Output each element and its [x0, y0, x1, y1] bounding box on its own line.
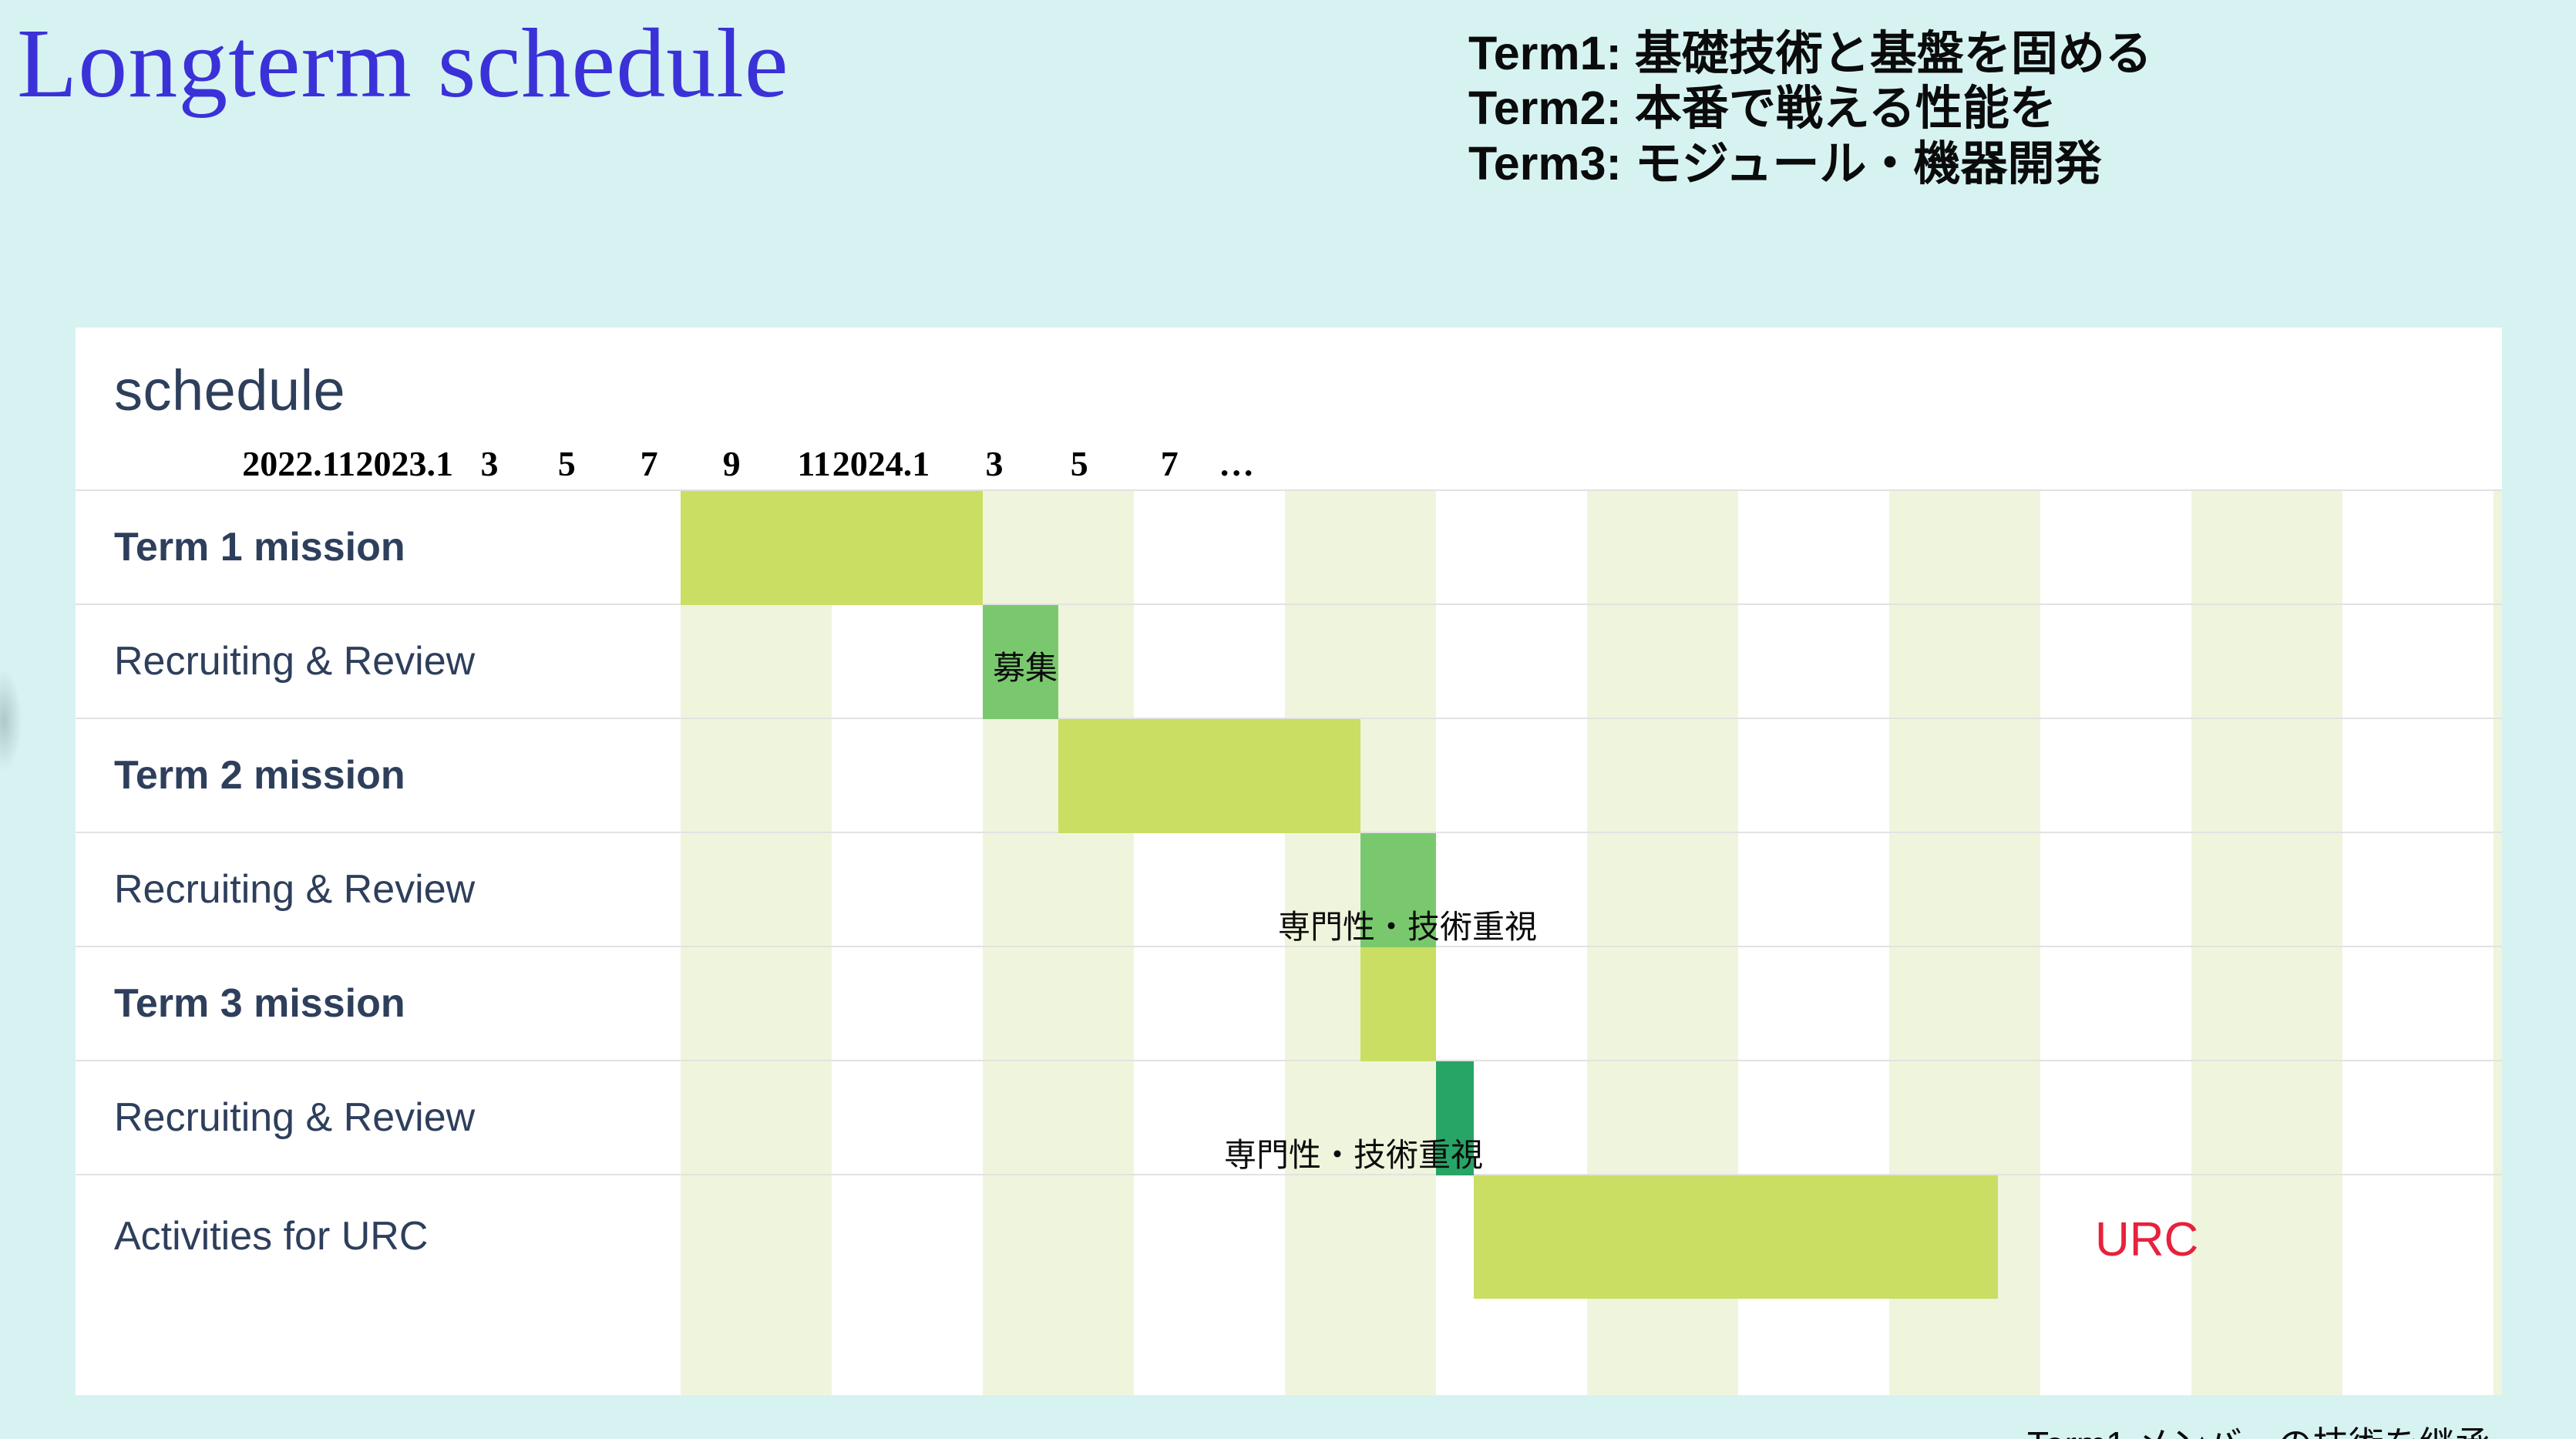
- axis-tick-label: 5: [1071, 443, 1088, 484]
- axis-tick-label: 5: [558, 443, 576, 484]
- term1-recruiting-bar-label: 募集: [993, 642, 1058, 689]
- activities-urc-bar[interactable]: [1474, 1175, 1998, 1299]
- axis-tick-label: 7: [1161, 443, 1179, 484]
- axis-tick-label: 2024.1: [832, 443, 930, 484]
- term2-mission-bar[interactable]: [1058, 719, 1360, 833]
- axis-tick-label: 9: [723, 443, 741, 484]
- gantt-row-label: Recruiting & Review: [114, 866, 475, 913]
- gantt-row-label: Recruiting & Review: [114, 638, 475, 684]
- gantt-row-label: Recruiting & Review: [114, 1094, 475, 1141]
- gantt-row: Term 1 mission: [76, 489, 2502, 604]
- axis-tick-label: 3: [480, 443, 498, 484]
- gantt-row-label: Activities for URC: [114, 1213, 428, 1259]
- axis-tick-label: 2023.1: [355, 443, 453, 484]
- term2-recruiting-bar-label: 専門性・技術重視: [1278, 901, 1537, 948]
- term3-recruiting-bar-label: 専門性・技術重視: [1224, 1129, 1483, 1176]
- term3-mission-bar[interactable]: [1360, 947, 1436, 1061]
- gantt-row-label: Term 2 mission: [114, 752, 405, 799]
- edge-artifact: [0, 671, 22, 771]
- gantt-row: Recruiting & Review募集: [76, 604, 2502, 718]
- gantt-row: Activities for URCURC: [76, 1174, 2502, 1297]
- axis-tick-label: 3: [986, 443, 1004, 484]
- chart-heading: schedule: [114, 362, 345, 419]
- gantt-row-label: Term 1 mission: [114, 524, 405, 570]
- term-legend-line-3: Term3: モジュール・機器開発: [1468, 136, 2152, 191]
- term-legend-line-2: Term2: 本番で戦える性能を: [1468, 81, 2152, 136]
- term-legend: Term1: 基礎技術と基盤を固める Term2: 本番で戦える性能を Term…: [1468, 26, 2152, 191]
- gantt-row: Term 3 mission: [76, 946, 2502, 1060]
- axis-tick-label: 11: [797, 443, 830, 484]
- gantt-row: Recruiting & Review専門性・技術重視: [76, 1060, 2502, 1174]
- term1-mission-bar[interactable]: [681, 491, 983, 605]
- axis-tick-label: 2022.11: [242, 443, 355, 484]
- schedule-chart-card: schedule 2022.112023.13579112024.1357… T…: [76, 328, 2502, 1395]
- gantt-row: Recruiting & Review専門性・技術重視: [76, 832, 2502, 946]
- axis-tick-label: 7: [641, 443, 658, 484]
- urc-milestone-label-label: URC: [2095, 1212, 2198, 1267]
- term-legend-line-1: Term1: 基礎技術と基盤を固める: [1468, 26, 2152, 81]
- bottom-caption: Term1 メンバーの技術を継承: [2027, 1417, 2490, 1439]
- page-title: Longterm schedule: [17, 14, 789, 113]
- axis-tick-label: …: [1219, 443, 1254, 484]
- gantt-row: Term 2 mission: [76, 718, 2502, 832]
- gantt-rows: Term 1 missionRecruiting & Review募集Term …: [76, 489, 2502, 1395]
- gantt-row-label: Term 3 mission: [114, 980, 405, 1027]
